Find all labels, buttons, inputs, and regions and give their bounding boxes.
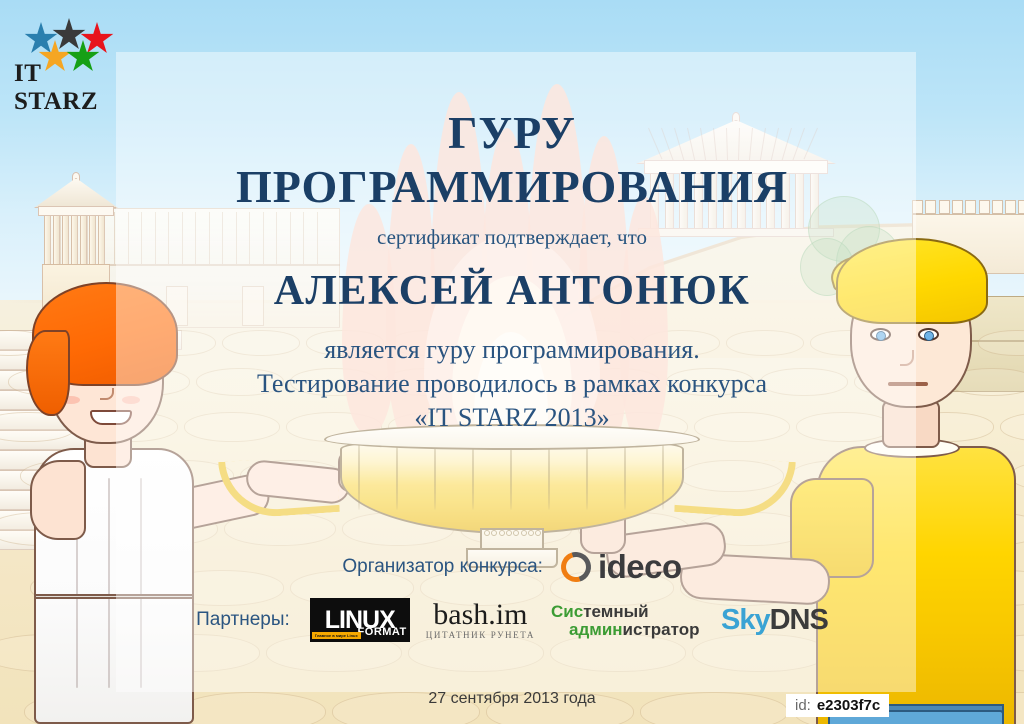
sysadmin-line2-rest: истратор <box>623 620 700 639</box>
sysadmin-line1-rest: темный <box>583 602 648 621</box>
bash-im-wordmark: bash.im <box>433 600 527 630</box>
body-line-1: является гуру программирования. <box>0 333 1024 367</box>
it-starz-wordmark: IT STARZ <box>14 60 116 116</box>
certificate-body: является гуру программирования. Тестиров… <box>0 333 1024 435</box>
certificate-canvas: ГУРУ ПРОГРАММИРОВАНИЯ сертификат подтвер… <box>0 0 1024 724</box>
linux-format-logo: LINUX FORMAT Главное в мире Linux <box>310 598 410 642</box>
sysadmin-line1: Системный <box>551 602 649 622</box>
ideco-logo: ideco <box>561 548 682 586</box>
sysadmin-line1-accent: Сис <box>551 602 583 621</box>
skydns-dns-part: DNS <box>770 604 828 636</box>
it-starz-logo[interactable]: IT STARZ <box>12 14 116 90</box>
recipient-name: АЛЕКСЕЙ АНТОНЮК <box>0 267 1024 315</box>
certificate-id-box: id: e2303f7c <box>786 694 889 717</box>
certificate-id-value: e2303f7c <box>817 697 880 714</box>
ideco-ring-icon <box>556 547 597 588</box>
certificate-title-line1: ГУРУ <box>0 106 1024 159</box>
sysadmin-line2: администратор <box>569 620 700 640</box>
partners-label: Партнеры: <box>196 609 290 631</box>
organizer-row: Организатор конкурса: ideco <box>0 548 1024 586</box>
body-line-2: Тестирование проводилось в рамках конкур… <box>0 367 1024 401</box>
certificate-id-label: id: <box>795 697 811 714</box>
bash-im-tagline: ЦИТАТНИК РУНЕТА <box>426 631 535 640</box>
certificate-subtitle: сертификат подтверждает, что <box>0 225 1024 250</box>
partners-row: Партнеры: LINUX FORMAT Главное в мире Li… <box>0 598 1024 642</box>
body-line-3: «IT STARZ 2013» <box>0 401 1024 435</box>
certificate-content: ГУРУ ПРОГРАММИРОВАНИЯ сертификат подтвер… <box>0 0 1024 724</box>
linux-format-tagline: Главное в мире Linux <box>312 632 361 639</box>
skydns-logo: SkyDNS <box>721 604 828 637</box>
certificate-title-line2: ПРОГРАММИРОВАНИЯ <box>0 160 1024 213</box>
linux-format-subword: FORMAT <box>358 626 407 638</box>
skydns-sky-part: Sky <box>721 604 770 636</box>
sysadmin-line2-accent: админ <box>569 620 623 639</box>
sistemny-administrator-logo: Системный администратор <box>551 600 705 640</box>
ideco-wordmark: ideco <box>598 548 682 586</box>
bash-im-logo: bash.im ЦИТАТНИК РУНЕТА <box>426 600 535 640</box>
organizer-label: Организатор конкурса: <box>342 556 543 578</box>
